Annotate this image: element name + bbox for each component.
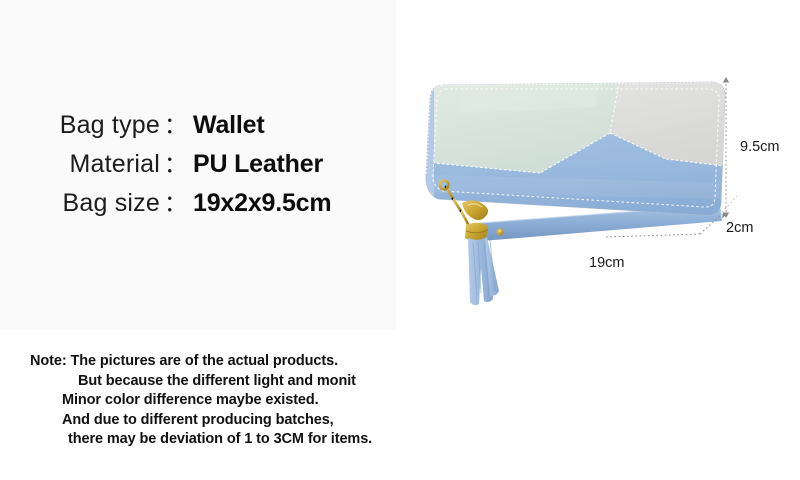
dimension-label-width: 19cm <box>589 255 624 271</box>
note-line: But because the different light and moni… <box>30 372 450 392</box>
note-line: Minor color difference maybe existed. <box>30 391 450 411</box>
spec-colon-bag-size: ： <box>160 184 193 218</box>
product-detail-image: Bag type ： Wallet Material ： PU Leather … <box>0 0 800 480</box>
spec-row-bag-size: Bag size ： 19x2x9.5cm <box>28 184 378 223</box>
disclaimer-note: Note: The pictures are of the actual pro… <box>30 352 450 450</box>
spec-row-bag-type: Bag type ： Wallet <box>28 106 378 145</box>
spec-colon-material: ： <box>160 145 193 179</box>
spec-label-bag-size: Bag size <box>28 189 160 218</box>
spec-value-bag-type: Wallet <box>193 111 265 140</box>
spec-label-material: Material <box>28 150 160 179</box>
product-photo-wallet <box>420 55 740 315</box>
spec-value-bag-size: 19x2x9.5cm <box>193 189 331 218</box>
note-line: And due to different producing batches, <box>30 411 450 431</box>
spec-row-material: Material ： PU Leather <box>28 145 378 184</box>
spec-label-bag-type: Bag type <box>28 111 160 140</box>
note-line: Note: The pictures are of the actual pro… <box>30 352 450 372</box>
dimension-label-depth: 2cm <box>726 220 753 236</box>
dimension-label-height: 9.5cm <box>740 139 780 155</box>
spec-colon-bag-type: ： <box>160 106 193 140</box>
note-line: there may be deviation of 1 to 3CM for i… <box>30 430 450 450</box>
tassel-fringe <box>468 237 499 305</box>
specification-list: Bag type ： Wallet Material ： PU Leather … <box>28 106 378 223</box>
spec-value-material: PU Leather <box>193 150 323 179</box>
